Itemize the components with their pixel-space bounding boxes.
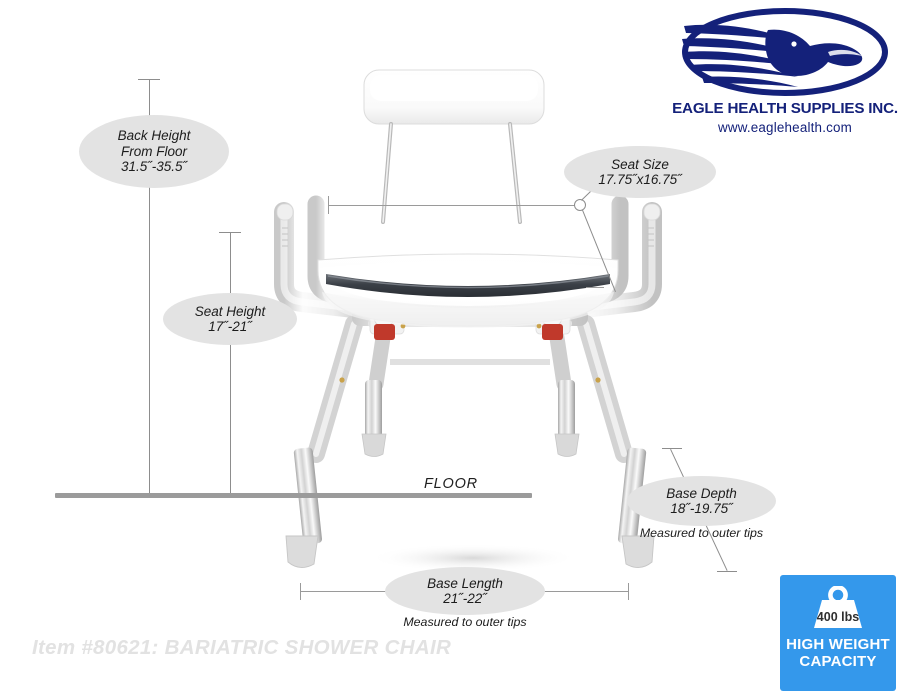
base-length-line1: Base Length (427, 576, 503, 591)
seat-height-dimension-line (230, 232, 231, 495)
base-depth-cap-top (662, 448, 682, 449)
callout-seat-height: Seat Height 17˝-21˝ (163, 293, 297, 345)
badge-caption-line2: CAPACITY (786, 653, 890, 670)
company-name: EAGLE HEALTH SUPPLIES INC. (672, 100, 898, 117)
callout-back-height: Back Height From Floor 31.5˝-35.5˝ (79, 115, 229, 188)
back-height-line2: From Floor (121, 144, 187, 159)
seat-height-line1: Seat Height (195, 304, 266, 319)
callout-seat-size: Seat Size 17.75˝x16.75˝ (564, 146, 716, 198)
item-number-label: Item #80621: BARIATRIC SHOWER CHAIR (32, 636, 451, 660)
base-depth-cap-bottom (717, 571, 737, 572)
base-length-note: Measured to outer tips (385, 616, 545, 630)
callout-base-length: Base Length 21˝-22˝ Measured to outer ti… (385, 567, 545, 630)
brand-logo-block: EAGLE HEALTH SUPPLIES INC. www.eagleheal… (672, 8, 898, 140)
floor-line (55, 493, 532, 498)
seat-size-lower-tick (586, 287, 604, 288)
callout-base-depth: Base Depth 18˝-19.75˝ Measured to outer … (627, 476, 776, 541)
base-depth-line1: Base Depth (666, 486, 737, 501)
base-depth-value: 18˝-19.75˝ (670, 501, 732, 516)
weight-value: 400 lbs (817, 610, 859, 624)
base-length-cap-right (628, 583, 629, 600)
company-website: www.eaglehealth.com (672, 120, 898, 135)
base-length-value: 21˝-22˝ (443, 591, 487, 606)
high-weight-capacity-badge: 400 lbs HIGH WEIGHT CAPACITY (780, 575, 896, 691)
badge-caption: HIGH WEIGHT CAPACITY (786, 636, 890, 671)
base-depth-note: Measured to outer tips (627, 527, 776, 541)
weight-icon: 400 lbs (809, 586, 867, 630)
eagle-logo-icon (672, 8, 898, 100)
back-height-line1: Back Height (118, 128, 191, 143)
floor-label: FLOOR (424, 476, 478, 492)
back-height-value: 31.5˝-35.5˝ (121, 159, 187, 174)
seat-size-line1: Seat Size (611, 157, 669, 172)
seat-size-node (574, 199, 586, 211)
seat-size-dimension-line (328, 205, 578, 206)
product-spec-diagram: EAGLE HEALTH SUPPLIES INC. www.eagleheal… (0, 0, 906, 700)
seat-height-value: 17˝-21˝ (208, 319, 252, 334)
badge-caption-line1: HIGH WEIGHT (786, 636, 890, 653)
seat-size-value: 17.75˝x16.75˝ (598, 172, 681, 187)
